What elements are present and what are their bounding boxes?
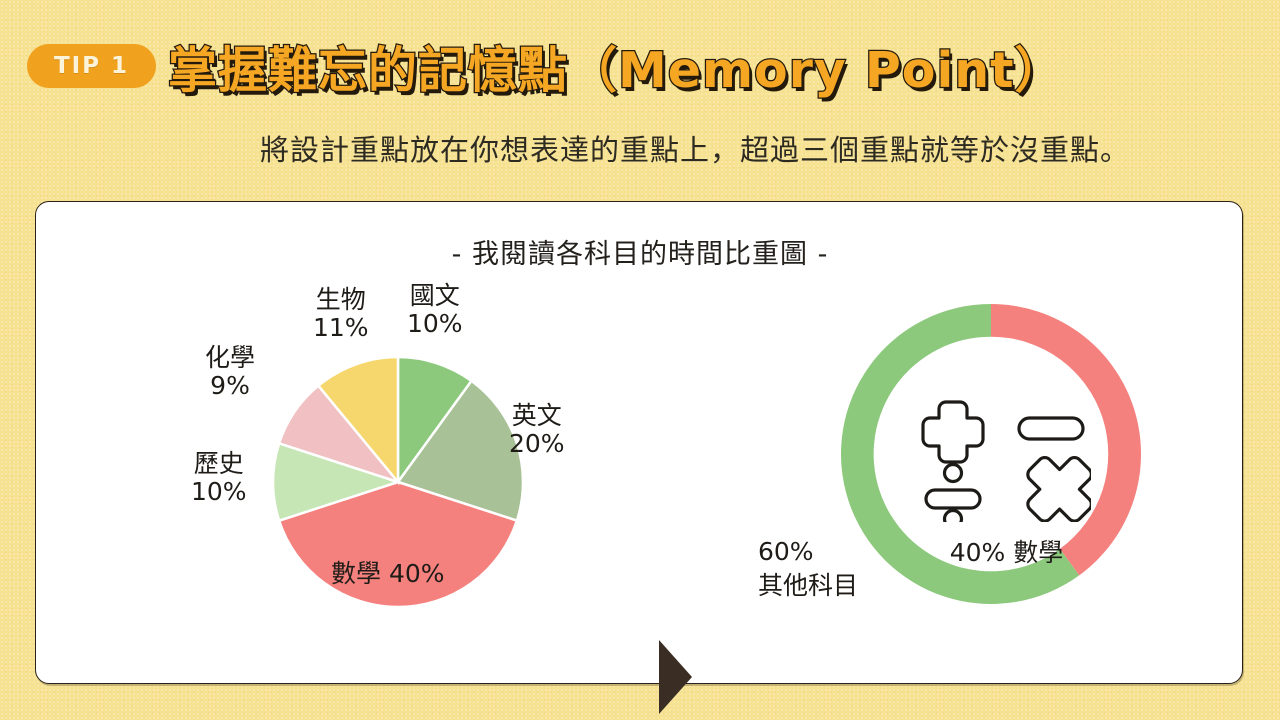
plus-icon (923, 402, 983, 462)
pie-label-chemistry: 化學 9% (205, 344, 255, 400)
page-header: TIP 1 掌握難忘的記憶點（Memory Point） 將設計重點放在你想表達… (0, 0, 1280, 190)
pie-label-biology: 生物 11% (313, 286, 369, 342)
pie-label-english: 英文 20% (509, 402, 565, 458)
pie-label-history: 歷史 10% (191, 450, 247, 506)
divide-icon (926, 465, 980, 523)
math-operator-icons (921, 397, 1091, 522)
page-subtitle: 將設計重點放在你想表達的重點上，超過三個重點就等於沒重點。 (0, 127, 1130, 169)
minus-icon (1019, 418, 1083, 439)
donut-chart: 40% 數學 60% 其他科目 (796, 272, 1216, 672)
pie-chart: 國文 10% 英文 20% 數學 40% 歷史 10% 化學 9% 生物 11% (191, 272, 621, 672)
multiply-icon (1028, 458, 1091, 522)
pie-chart-svg (191, 272, 621, 672)
tip-badge: TIP 1 (27, 44, 156, 88)
pie-label-chinese: 國文 10% (407, 282, 463, 338)
chart-title: - 我閱讀各科目的時間比重圖 - (36, 232, 1244, 271)
chart-card: - 我閱讀各科目的時間比重圖 - 國文 10% 英文 (35, 201, 1243, 684)
donut-label-math: 40% 數學 (899, 536, 1114, 570)
pie-label-math: 數學 40% (331, 560, 445, 588)
donut-label-other: 60% 其他科目 (758, 535, 858, 603)
right-triangle-arrow-icon (659, 640, 692, 714)
page-title: 掌握難忘的記憶點（Memory Point） (168, 31, 1065, 102)
tip-badge-label: TIP 1 (54, 53, 129, 79)
